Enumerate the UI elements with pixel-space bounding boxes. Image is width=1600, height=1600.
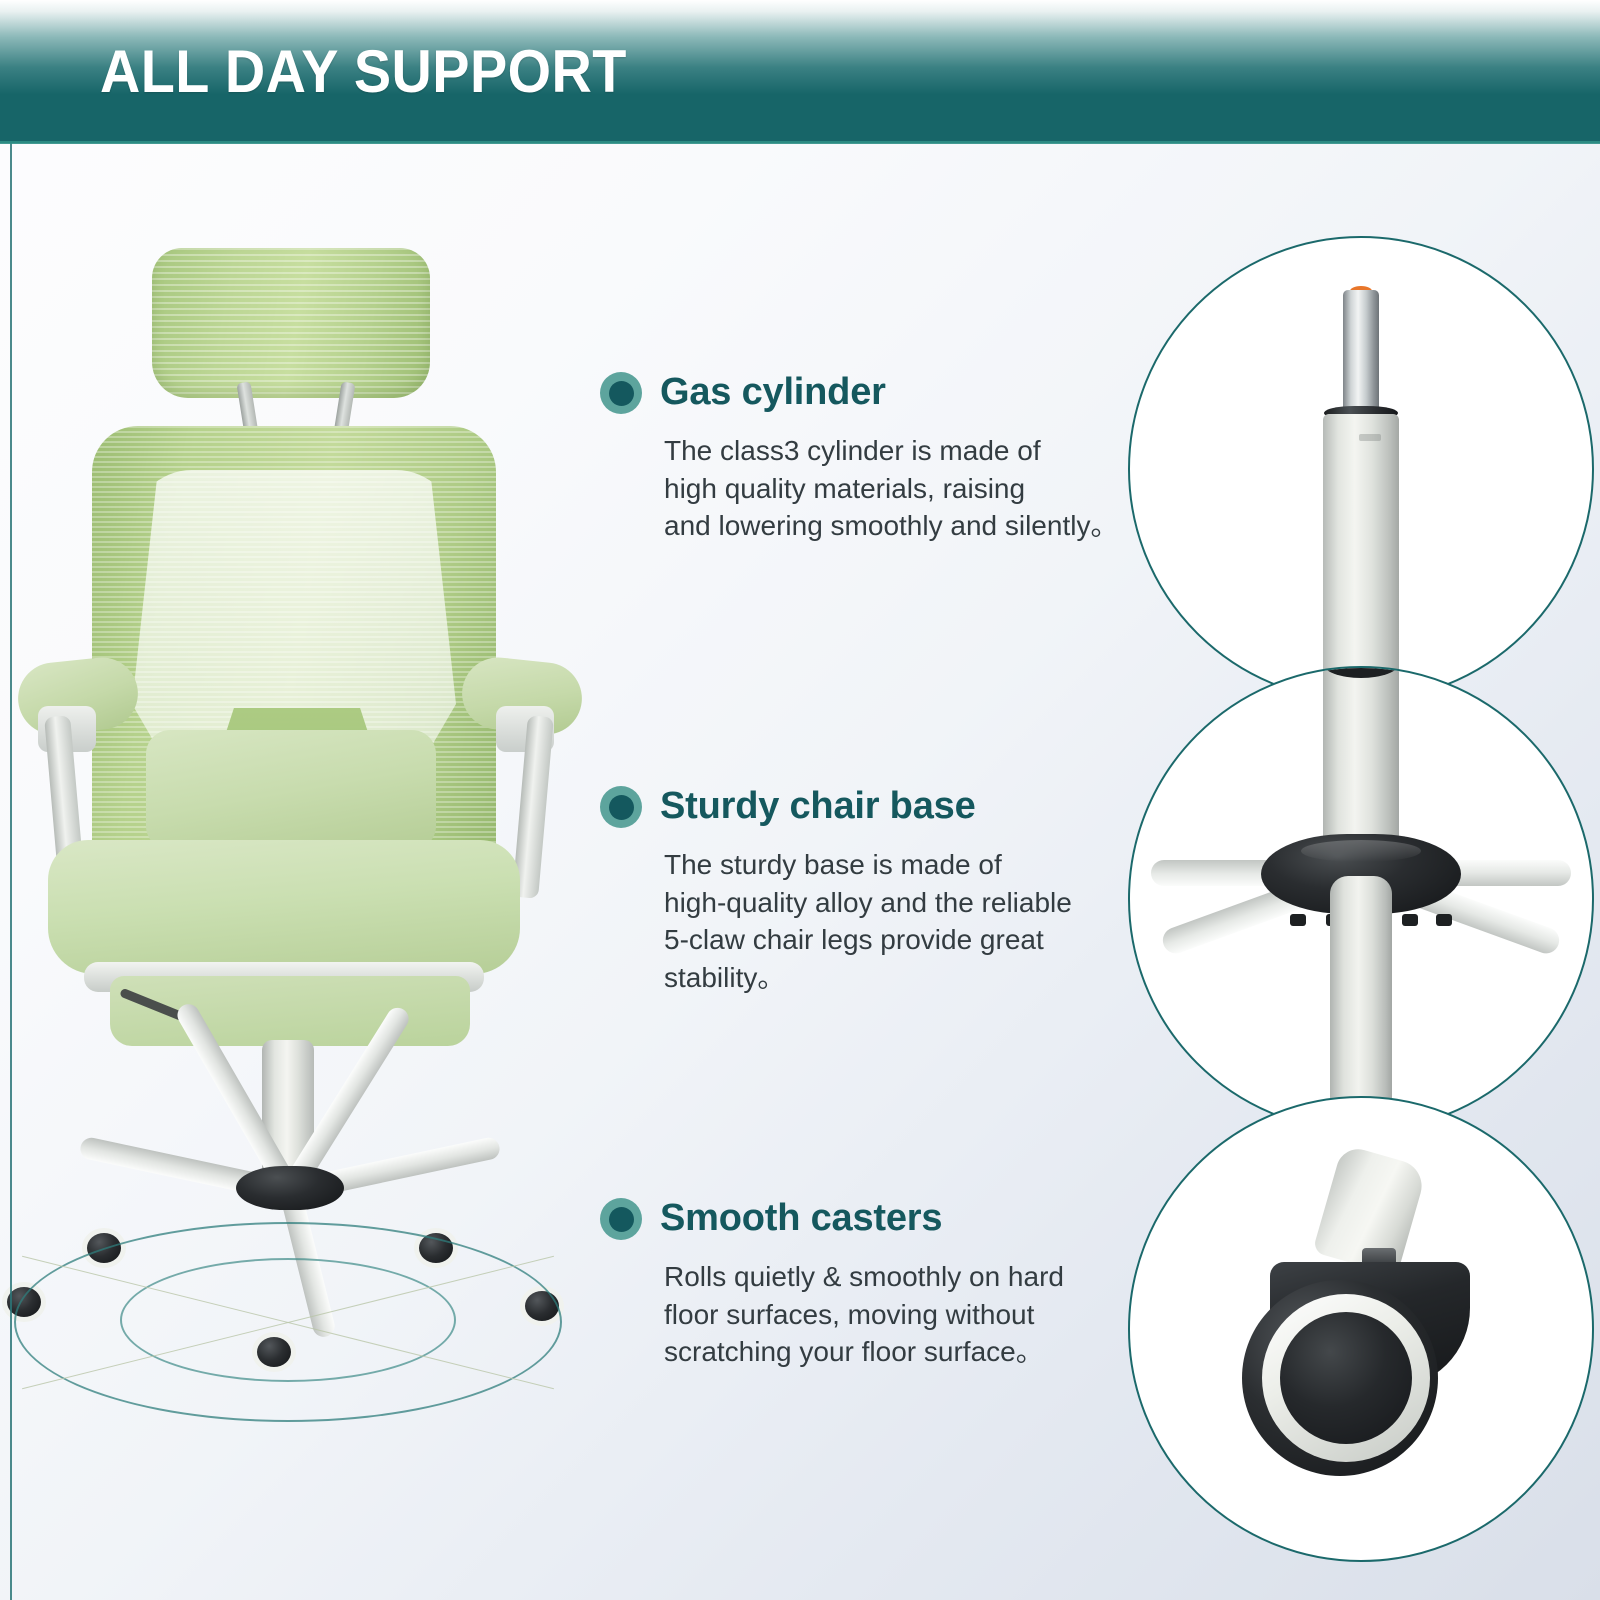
feature-title: Sturdy chair base: [660, 786, 976, 828]
description-line: The class3 cylinder is made of: [664, 432, 1160, 470]
infographic-page: ALL DAY SUPPORT: [0, 0, 1600, 1600]
feature-gas-cylinder: Gas cylinder The class3 cylinder is made…: [600, 372, 1160, 545]
hub-foot-4: [1436, 914, 1452, 926]
office-chair-photo: [0, 150, 600, 1570]
chair-base-photo: [1128, 666, 1594, 1132]
banner-underline: [0, 141, 1600, 144]
bullet-inner-dot: [609, 381, 634, 406]
feature-description: Rolls quietly & smoothly on hard floor s…: [664, 1258, 1160, 1371]
base-column-lower: [1330, 876, 1392, 1132]
description-line: Rolls quietly & smoothly on hard: [664, 1258, 1160, 1296]
description-line: floor surfaces, moving without: [664, 1296, 1160, 1334]
cylinder-chrome-piston: [1343, 290, 1379, 412]
description-line: scratching your floor surface。: [664, 1333, 1160, 1371]
feature-title: Gas cylinder: [660, 372, 886, 414]
rotation-radius-inner-ring: [120, 1258, 456, 1382]
feature-heading-row: Gas cylinder: [600, 372, 1160, 414]
feature-heading-row: Sturdy chair base: [600, 786, 1160, 828]
gas-cylinder-photo: [1128, 236, 1594, 702]
hub-foot-1: [1290, 914, 1306, 926]
description-line: 5-claw chair legs provide great: [664, 921, 1160, 959]
caster-photo: [1128, 1096, 1594, 1562]
description-line: and lowering smoothly and silently。: [664, 507, 1160, 545]
base-center-hub: [236, 1166, 344, 1210]
page-title: ALL DAY SUPPORT: [100, 42, 627, 102]
feature-description: The class3 cylinder is made of high qual…: [664, 432, 1160, 545]
feature-smooth-casters: Smooth casters Rolls quietly & smoothly …: [600, 1198, 1160, 1371]
chair-headrest: [152, 248, 430, 398]
cylinder-label-mark: [1359, 434, 1381, 441]
description-line: high-quality alloy and the reliable: [664, 884, 1160, 922]
filled-circle-ring-icon: [600, 786, 642, 828]
description-line: high quality materials, raising: [664, 470, 1160, 508]
bullet-inner-dot: [609, 1207, 634, 1232]
left-border-rule: [10, 143, 12, 1600]
feature-sturdy-chair-base: Sturdy chair base The sturdy base is mad…: [600, 786, 1160, 996]
feature-title: Smooth casters: [660, 1198, 942, 1240]
hub-highlight: [1301, 840, 1421, 862]
header-banner: ALL DAY SUPPORT: [0, 0, 1600, 143]
feature-heading-row: Smooth casters: [600, 1198, 1160, 1240]
cylinder-body: [1323, 414, 1399, 702]
feature-list: Gas cylinder The class3 cylinder is made…: [600, 0, 1160, 1600]
description-line: stability。: [664, 959, 1160, 997]
filled-circle-ring-icon: [600, 372, 642, 414]
base-column-upper: [1323, 666, 1399, 852]
chair-seat-cushion: [48, 840, 520, 974]
bullet-inner-dot: [609, 795, 634, 820]
caster-hub-disc: [1280, 1312, 1412, 1444]
feature-description: The sturdy base is made of high-quality …: [664, 846, 1160, 996]
filled-circle-ring-icon: [600, 1198, 642, 1240]
description-line: The sturdy base is made of: [664, 846, 1160, 884]
lumbar-support-pillow: [146, 730, 436, 850]
hub-foot-3: [1402, 914, 1418, 926]
